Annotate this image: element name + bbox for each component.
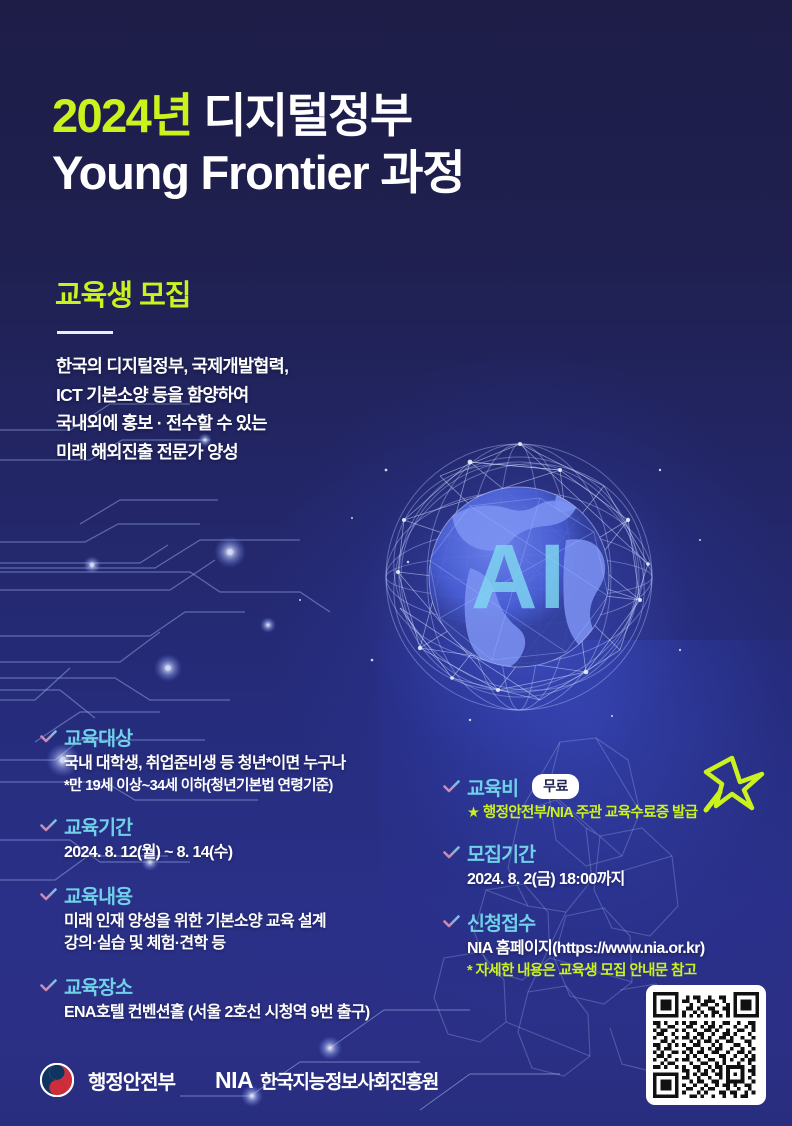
svg-text:AI: AI (471, 526, 567, 628)
certificate-note: ★ 행정안전부/NIA 주관 교육수료증 발급 (443, 803, 773, 823)
info-block-title: 교육내용 (64, 880, 132, 909)
subheading: 교육생 모집 (55, 272, 190, 314)
check-icon (40, 730, 57, 743)
title-year: 2024년 (52, 89, 192, 142)
info-block-header: 교육비 무료 (443, 772, 773, 801)
check-icon (443, 915, 460, 928)
nia-mark: NIA (215, 1067, 253, 1094)
footer-logos: 행정안전부 NIA 한국지능정보사회진흥원 (40, 1056, 438, 1104)
free-badge: 무료 (532, 774, 579, 799)
info-block-title: 교육비 (467, 772, 518, 801)
info-block-title: 신청접수 (467, 907, 535, 936)
nia-logo: NIA 한국지능정보사회진흥원 (215, 1067, 438, 1094)
apply-url[interactable]: NIA 홈페이지(https://www.nia.or.kr) (443, 938, 773, 961)
info-block-header: 신청접수 (443, 907, 773, 936)
nia-name: 한국지능정보사회진흥원 (260, 1067, 438, 1094)
info-block-header: 교육내용 (40, 880, 460, 909)
info-block-header: 교육기간 (40, 811, 460, 840)
info-block-body: ENA호텔 컨벤션홀 (서울 2호선 시청역 9번 출구) (40, 1002, 460, 1025)
info-block-title: 교육대상 (64, 722, 132, 751)
ministry-label: 행정안전부 (88, 1066, 175, 1095)
info-block-title: 모집기간 (467, 838, 535, 867)
info-block-title: 교육장소 (64, 971, 132, 1000)
info-block-header: 교육대상 (40, 722, 460, 751)
info-block-body: 2024. 8. 12(월) ~ 8. 14(수) (40, 842, 460, 865)
check-icon (40, 888, 57, 901)
info-block-content: 교육내용 미래 인재 양성을 위한 기본소양 교육 설계 강의·실습 및 체험·… (40, 880, 460, 956)
info-block-body: 2024. 8. 2(금) 18:00까지 (443, 869, 773, 892)
info-block-target: 교육대상 국내 대학생, 취업준비생 등 청년*이면 누구나 *만 19세 이상… (40, 722, 460, 796)
poster: AI (0, 0, 792, 1126)
info-block-body: 미래 인재 양성을 위한 기본소양 교육 설계 강의·실습 및 체험·견학 등 (40, 911, 460, 956)
check-icon (443, 846, 460, 859)
info-block-header: 모집기간 (443, 838, 773, 867)
check-icon (40, 819, 57, 832)
poster-header: 2024년 디지털정부 Young Frontier 과정 (52, 88, 464, 201)
taegeuk-logo-icon (40, 1063, 74, 1097)
divider-rule (57, 331, 113, 334)
check-icon (40, 979, 57, 992)
info-block-header: 교육장소 (40, 971, 460, 1000)
info-block-fee: 교육비 무료 ★ 행정안전부/NIA 주관 교육수료증 발급 (443, 772, 773, 823)
info-block-apply: 신청접수 NIA 홈페이지(https://www.nia.or.kr) * 자… (443, 907, 773, 981)
info-column-right: 교육비 무료 ★ 행정안전부/NIA 주관 교육수료증 발급 모집기간 2024… (443, 772, 773, 981)
info-block-title: 교육기간 (64, 811, 132, 840)
qr-code[interactable] (646, 985, 766, 1105)
info-block-venue: 교육장소 ENA호텔 컨벤션홀 (서울 2호선 시청역 9번 출구) (40, 971, 460, 1025)
check-icon (443, 780, 460, 793)
info-column-left: 교육대상 국내 대학생, 취업준비생 등 청년*이면 누구나 *만 19세 이상… (40, 722, 460, 1025)
apply-note: * 자세한 내용은 교육생 모집 안내문 참고 (443, 961, 773, 981)
info-block-period: 교육기간 2024. 8. 12(월) ~ 8. 14(수) (40, 811, 460, 865)
title-line-2: Young Frontier 과정 (52, 145, 464, 200)
title-line-1: 2024년 디지털정부 (52, 88, 464, 143)
title-line-1-rest: 디지털정부 (192, 89, 412, 142)
info-block-application-period: 모집기간 2024. 8. 2(금) 18:00까지 (443, 838, 773, 892)
info-block-note: *만 19세 이상~34세 이하(청년기본법 연령기준) (40, 776, 460, 796)
info-block-body: 국내 대학생, 취업준비생 등 청년*이면 누구나 (40, 753, 460, 776)
description-text: 한국의 디지털정부, 국제개발협력, ICT 기본소양 등을 함양하여 국내외에… (56, 352, 288, 466)
